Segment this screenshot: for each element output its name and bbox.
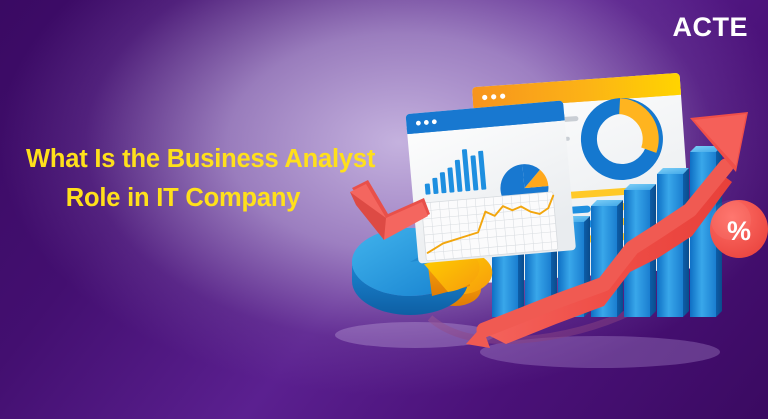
percent-symbol: % xyxy=(727,216,751,246)
banner-root: % ACTE What Is the Business Analyst Role… xyxy=(0,0,768,419)
dashboard-window-blue[interactable] xyxy=(406,100,576,263)
acte-logo[interactable]: ACTE xyxy=(673,14,749,41)
line-graph-grid-panel xyxy=(421,192,558,261)
page-title: What Is the Business Analyst Role in IT … xyxy=(26,140,376,218)
percent-badge[interactable]: % xyxy=(710,200,768,258)
page-title-line-2: Role in IT Company xyxy=(26,179,376,218)
page-title-line-1: What Is the Business Analyst xyxy=(26,140,376,179)
